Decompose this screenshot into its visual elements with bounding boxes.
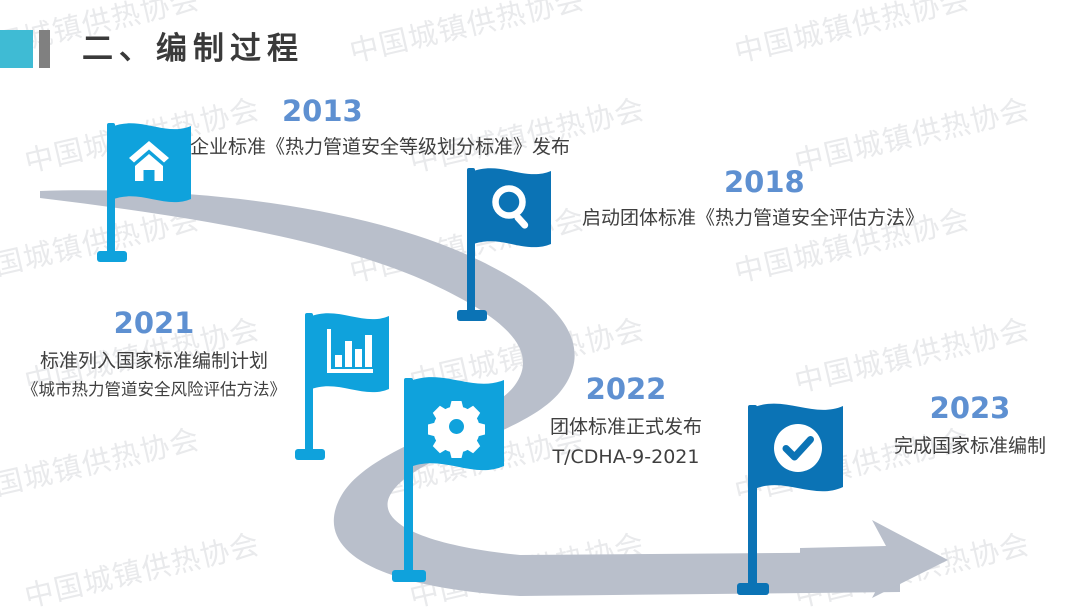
milestone-2013: 2013 企业标准《热力管道安全等级划分标准》发布 <box>190 96 570 162</box>
milestone-text-2021-0: 标准列入国家标准编制计划 <box>18 348 290 376</box>
title-accent-bar <box>39 30 50 68</box>
check-circle-icon <box>774 424 822 472</box>
title-text: 二、编制过程 <box>82 30 304 68</box>
milestone-2023: 2023 完成国家标准编制 <box>875 393 1065 461</box>
milestone-text-2021-1: 《城市热力管道安全风险评估方法》 <box>18 378 290 402</box>
page-title: 二、编制过程 <box>0 30 304 68</box>
gear-icon <box>428 401 485 458</box>
flag-2013 <box>95 115 205 270</box>
flag-2022 <box>390 368 520 593</box>
milestone-text-2018-0: 启动团体标准《热力管道安全评估方法》 <box>582 205 924 233</box>
flag-2018 <box>455 160 565 330</box>
milestone-text-2023-0: 完成国家标准编制 <box>875 433 1065 461</box>
flag-banner-2018 <box>471 168 551 247</box>
milestone-text-2022-1: T/CDHA-9-2021 <box>533 444 719 472</box>
milestone-text-2022-0: 团体标准正式发布 <box>533 414 719 442</box>
milestone-2021: 2021 标准列入国家标准编制计划 《城市热力管道安全风险评估方法》 <box>18 308 290 402</box>
flag-2023 <box>735 395 860 605</box>
milestone-year-2022: 2022 <box>533 374 719 404</box>
milestone-year-2018: 2018 <box>724 167 924 197</box>
milestone-year-2021: 2021 <box>18 308 290 338</box>
slide-canvas: 中国城镇供热协会中国城镇供热协会中国城镇供热协会中国城镇供热协会中国城镇供热协会… <box>0 0 1080 608</box>
title-accent-square <box>0 30 33 68</box>
milestone-2018: 2018 启动团体标准《热力管道安全评估方法》 <box>582 167 924 233</box>
flag-2021 <box>293 305 403 470</box>
milestone-text-2013-0: 企业标准《热力管道安全等级划分标准》发布 <box>190 134 570 162</box>
milestone-year-2013: 2013 <box>282 96 570 126</box>
milestone-year-2023: 2023 <box>875 393 1065 423</box>
milestone-2022: 2022 团体标准正式发布 T/CDHA-9-2021 <box>533 374 719 472</box>
